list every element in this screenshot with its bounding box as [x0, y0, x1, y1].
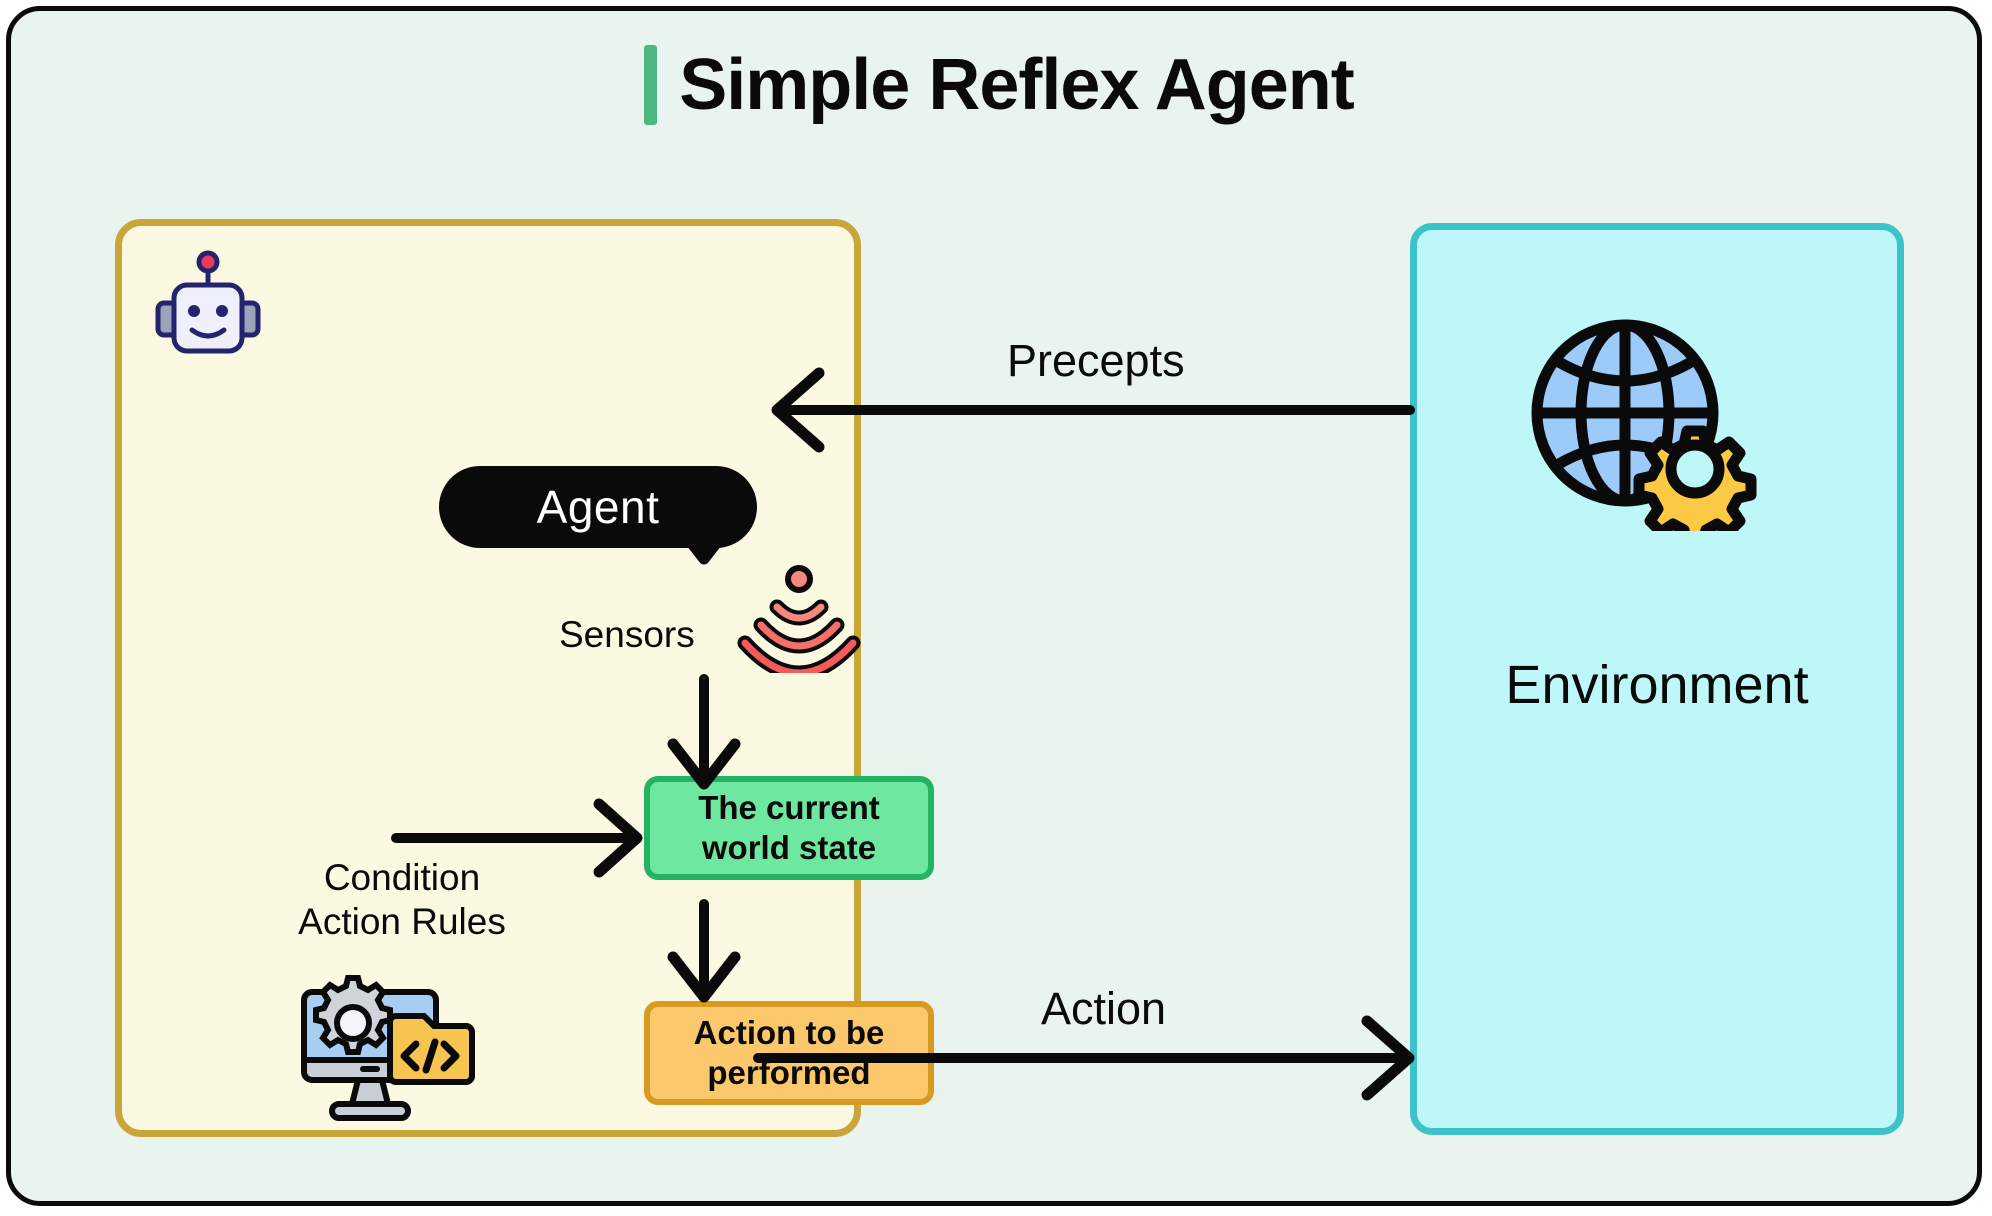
title-text: Simple Reflex Agent — [679, 49, 1354, 121]
environment-container: Environment — [1410, 223, 1904, 1135]
diagram-canvas: Simple Reflex Agent Agent Sensors — [6, 6, 1982, 1206]
action-box-line1: Action to be — [694, 1014, 885, 1051]
agent-container: Agent Sensors Condition Action Rules — [115, 219, 861, 1137]
signal-waves-icon — [737, 563, 861, 673]
rules-label-line2: Action Rules — [298, 901, 506, 942]
agent-badge: Agent — [439, 466, 757, 548]
action-connector-label: Action — [1041, 983, 1166, 1035]
agent-badge-label: Agent — [537, 480, 660, 534]
robot-icon — [150, 248, 266, 364]
state-box-line1: The current — [698, 789, 880, 826]
environment-label: Environment — [1417, 654, 1897, 716]
title-accent-bar — [644, 45, 657, 125]
page-title: Simple Reflex Agent — [11, 45, 1982, 125]
globe-gear-icon — [1521, 315, 1757, 531]
state-box-line2: world state — [702, 829, 876, 866]
condition-action-rules-label: Condition Action Rules — [282, 856, 522, 943]
current-world-state-box: The current world state — [644, 776, 934, 880]
sensors-label: Sensors — [559, 613, 695, 657]
action-to-be-performed-box: Action to be performed — [644, 1001, 934, 1105]
action-box-line2: performed — [707, 1054, 870, 1091]
rules-label-line1: Condition — [324, 857, 480, 898]
monitor-gear-code-icon — [292, 964, 482, 1134]
precepts-label: Precepts — [1007, 335, 1185, 387]
